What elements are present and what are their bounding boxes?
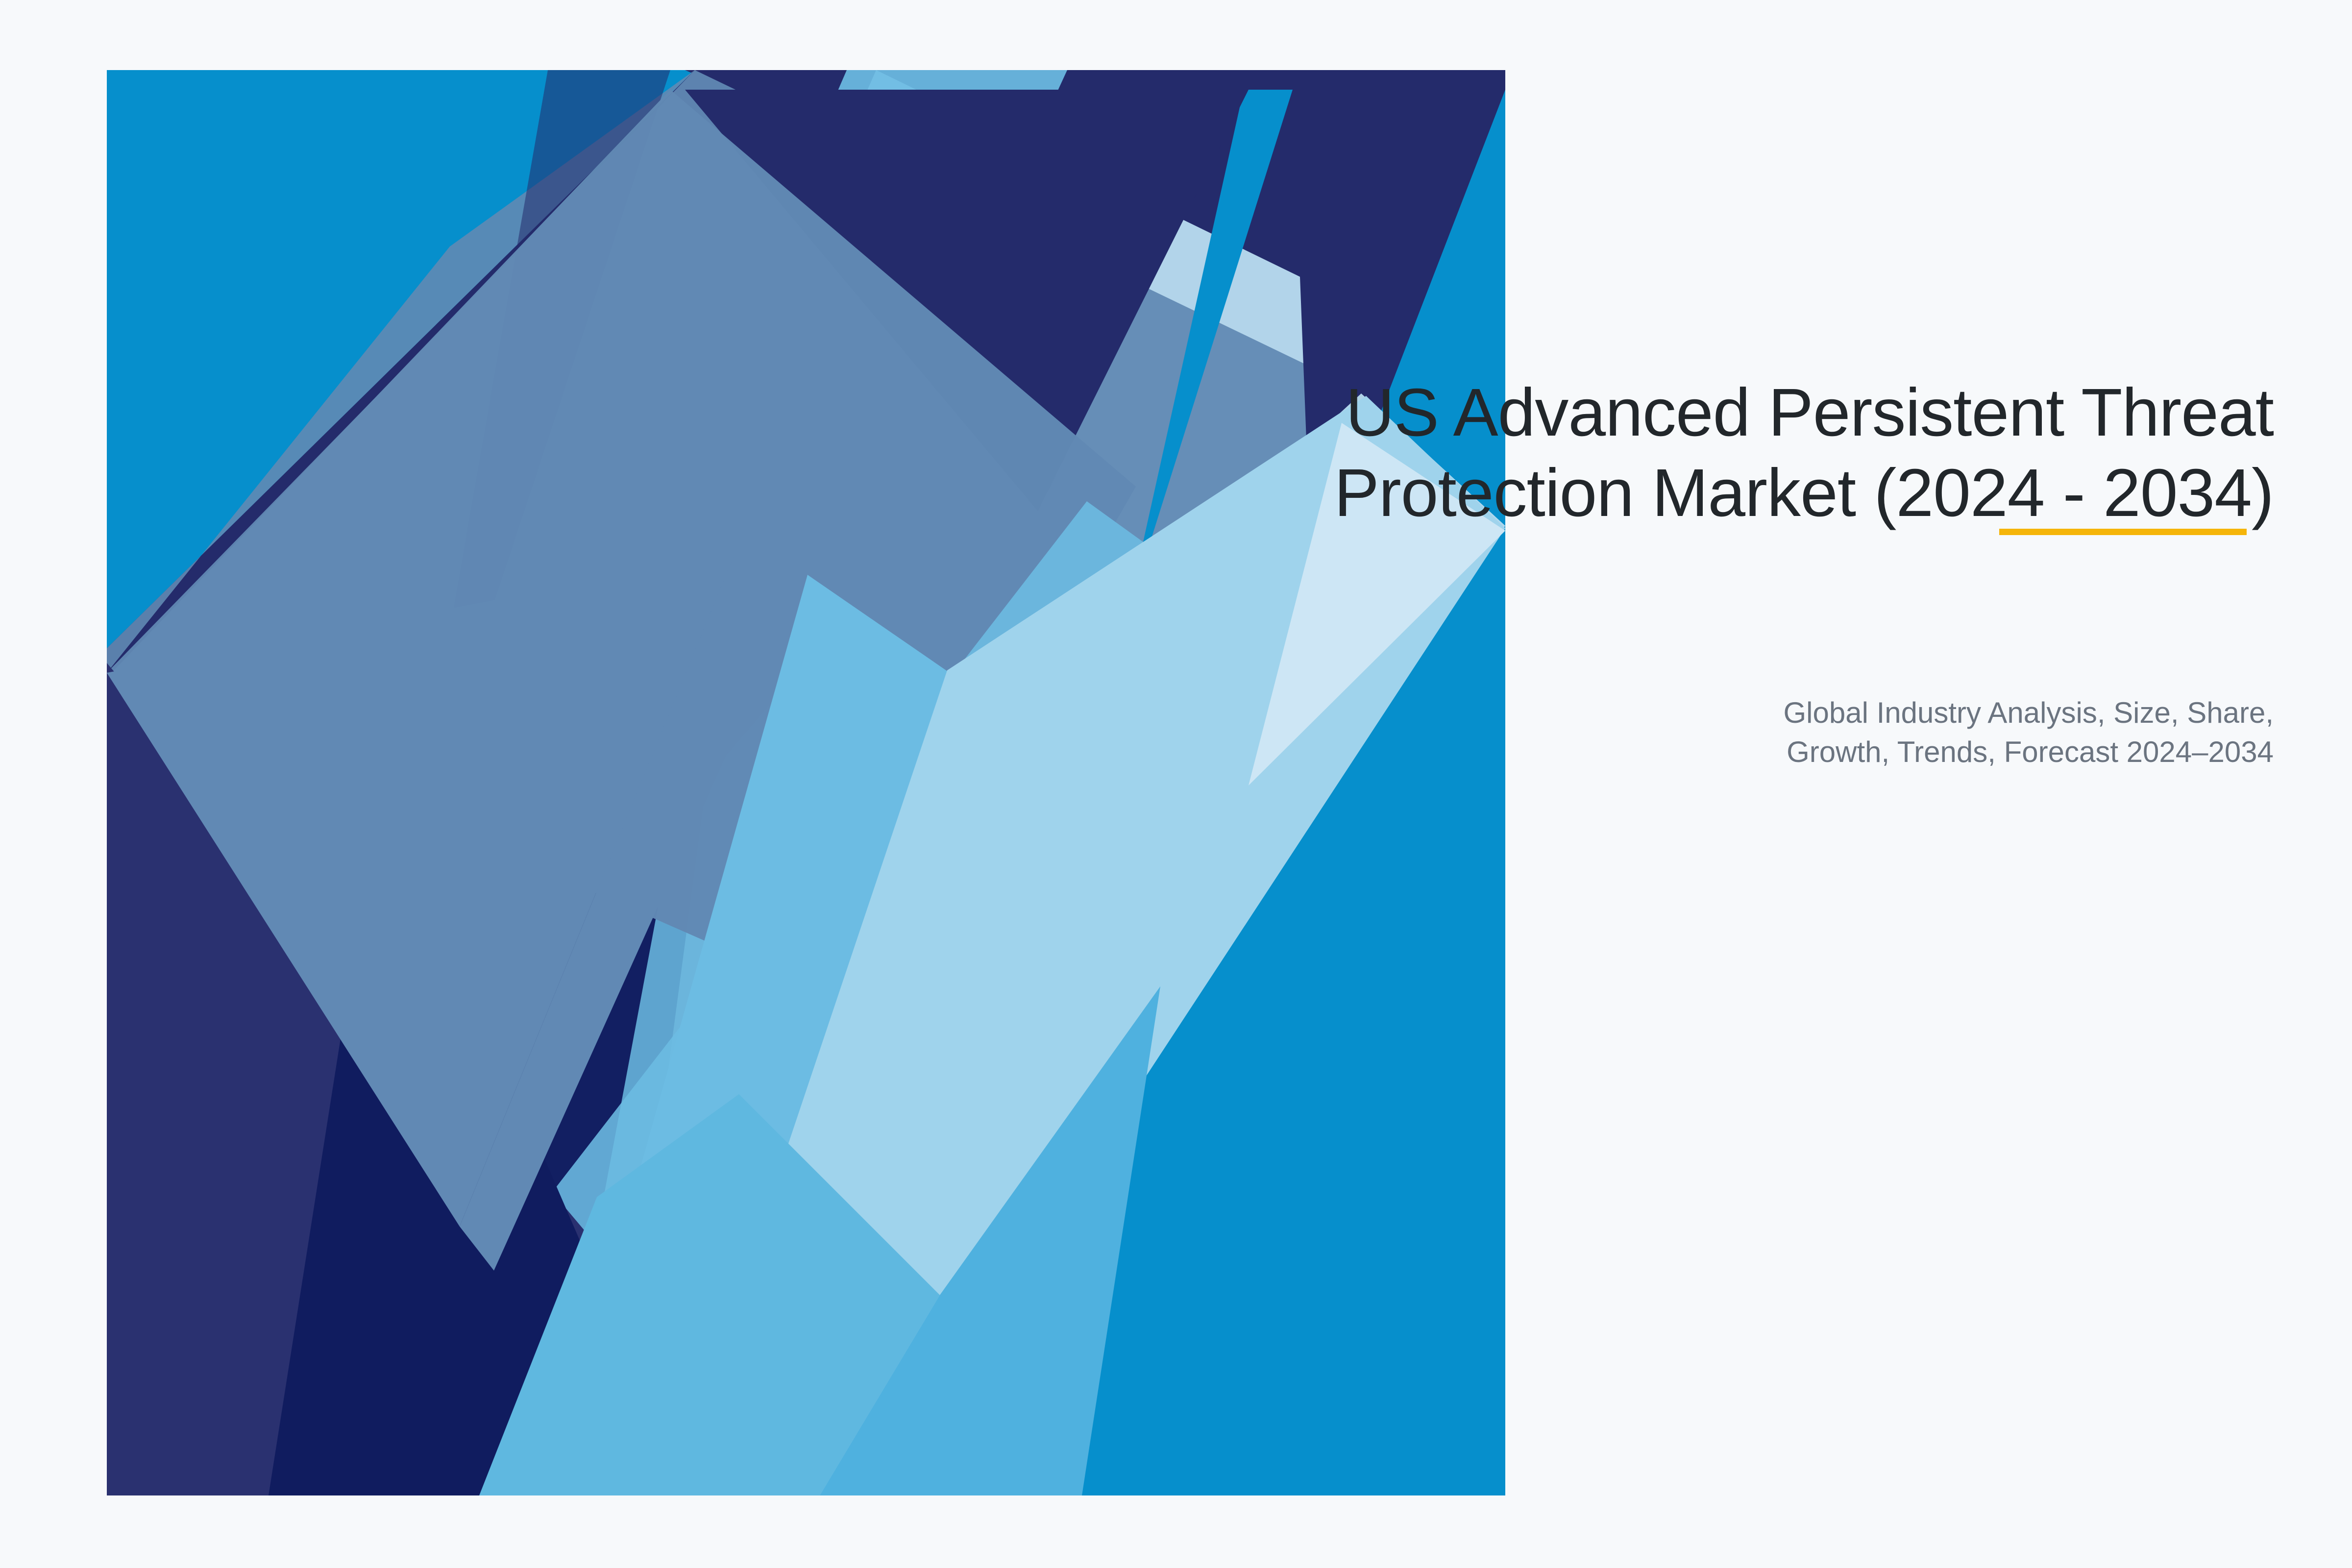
cover-page: US Advanced Persistent Threat Protection… [0,0,2352,1568]
cover-artwork [107,70,1505,1495]
cover-text-block: US Advanced Persistent Threat Protection… [1029,372,2274,533]
geometric-artwork-svg [107,70,1505,1495]
page-title: US Advanced Persistent Threat Protection… [1029,372,2274,533]
page-subtitle: Global Industry Analysis, Size, Share, G… [1245,693,2274,772]
